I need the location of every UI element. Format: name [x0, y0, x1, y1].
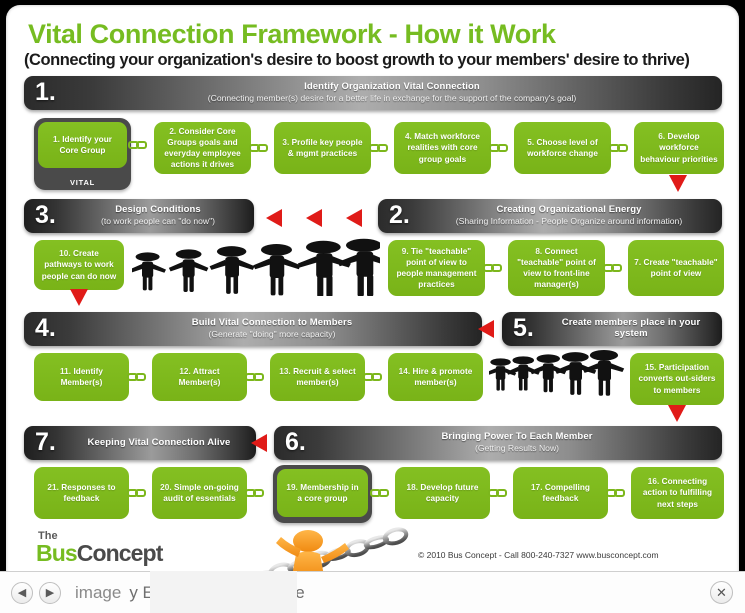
flow-arrow-left-e	[251, 434, 267, 452]
step-box-1[interactable]: 1. Identify your Core Group	[38, 122, 127, 168]
step-box-7[interactable]: 7. Create "teachable" point of view	[628, 240, 724, 296]
section-subheading: (to work people can "do now")	[101, 216, 215, 226]
section-heading: Identify Organization Vital Connection	[304, 82, 480, 93]
step-text: Create pathways to work people can do no…	[42, 249, 117, 280]
chain-link	[489, 143, 511, 153]
image-viewer: Vital Connection Framework - How it Work…	[0, 0, 745, 613]
step-box-8[interactable]: 8. Connect "teachable" point of view to …	[508, 240, 605, 296]
step-number: 8.	[535, 247, 542, 256]
step-text: Profile key people & mgmt practices	[288, 138, 363, 158]
flow-arrow-down-3	[668, 405, 686, 422]
step-number: 5.	[527, 138, 534, 147]
logo-bus: Bus	[36, 540, 77, 566]
step-text: Match workforce realities with core grou…	[407, 132, 480, 163]
step-box-17[interactable]: 17. Compelling feedback	[513, 467, 608, 519]
section-bar-5: 5. Create members place in your system	[502, 312, 722, 346]
chain-link	[245, 488, 267, 498]
step-text: Responses to feedback	[61, 483, 115, 503]
step-number: 7.	[634, 258, 641, 267]
step-number: 4.	[405, 132, 412, 141]
step-box-13[interactable]: 13. Recruit & select member(s)	[270, 353, 365, 401]
section-heading: Create members place in your system	[550, 318, 712, 340]
people-chain-illustration-1	[132, 238, 380, 296]
chain-link	[370, 488, 392, 498]
step-number: 18.	[407, 483, 419, 492]
step-box-4[interactable]: 4. Match workforce realities with core g…	[394, 122, 491, 174]
step-number: 14.	[399, 367, 411, 376]
step-box-2[interactable]: 2. Consider Core Groups goals and everyd…	[154, 122, 251, 174]
step-number: 17.	[531, 483, 543, 492]
chain-link	[363, 372, 385, 382]
step-box-3[interactable]: 3. Profile key people & mgmt practices	[274, 122, 371, 174]
section-bar-7: 7. Keeping Vital Connection Alive	[24, 426, 256, 460]
step-text: Membership in a core group	[297, 483, 358, 503]
arrow-left-icon[interactable]: ◀	[11, 582, 33, 604]
section-number: 3.	[35, 203, 56, 228]
section-subheading: (Sharing Information - People Organize a…	[456, 216, 682, 226]
section-heading: Keeping Vital Connection Alive	[88, 438, 231, 449]
chain-link	[606, 488, 628, 498]
step-box-16[interactable]: 16. Connecting action to fulfilling next…	[631, 467, 724, 519]
step-box-18[interactable]: 18. Develop future capacity	[395, 467, 490, 519]
step-number: 20.	[160, 483, 172, 492]
close-icon[interactable]: ✕	[710, 581, 733, 604]
step-box-11[interactable]: 11. Identify Member(s)	[34, 353, 129, 401]
section-bar-3: 3. Design Conditions (to work people can…	[24, 199, 254, 233]
section-bar-2: 2. Creating Organizational Energy (Shari…	[378, 199, 722, 233]
section-subheading: (Connecting member(s) desire for a bette…	[208, 93, 577, 103]
chain-link	[483, 263, 505, 273]
chain-link	[369, 143, 391, 153]
step-text: Develop future capacity	[420, 483, 478, 503]
step-number: 3.	[282, 138, 289, 147]
step-text: Identify your Core Group	[60, 135, 113, 155]
step-box-21[interactable]: 21. Responses to feedback	[34, 467, 129, 519]
step-number: 1.	[53, 135, 60, 144]
step-text: Compelling feedback	[543, 483, 590, 503]
vital-plate-label: VITAL	[34, 178, 131, 187]
flow-arrow-left-c	[346, 209, 362, 227]
copyright-text: © 2010 Bus Concept - Call 800-240-7327 w…	[418, 550, 659, 560]
section-number: 7.	[35, 430, 56, 455]
flow-arrow-down-1	[669, 175, 687, 192]
step-box-19[interactable]: 19. Membership in a core group	[277, 469, 368, 517]
step-number: 6.	[658, 132, 665, 141]
step-text: Choose level of workforce change	[527, 138, 598, 158]
section-number: 4.	[35, 316, 56, 341]
section-subheading: (Getting Results Now)	[475, 443, 559, 453]
section-bar-6: 6. Bringing Power To Each Member (Gettin…	[274, 426, 722, 460]
section-heading: Build Vital Connection to Members	[192, 318, 352, 329]
step-box-5[interactable]: 5. Choose level of workforce change	[514, 122, 611, 174]
flow-arrow-left-b	[306, 209, 322, 227]
chain-link	[128, 140, 150, 150]
section-number: 6.	[285, 430, 306, 455]
image-viewer-toolbar: ◀ ▶ image y Effective Art Boutique ✕	[0, 571, 745, 613]
step-text: Connect "teachable" point of view to fro…	[517, 247, 596, 289]
step-box-12[interactable]: 12. Attract Member(s)	[152, 353, 247, 401]
step-number: 16.	[648, 477, 660, 486]
step-text: Recruit & select member(s)	[293, 367, 356, 387]
section-heading: Creating Organizational Energy	[497, 205, 642, 216]
image-bleed-strip	[150, 571, 297, 613]
step-number: 9.	[402, 247, 409, 256]
section-bar-4: 4. Build Vital Connection to Members (Ge…	[24, 312, 482, 346]
section-bar-1: 1. Identify Organization Vital Connectio…	[24, 76, 722, 110]
step-text: Create "teachable" point of view	[644, 258, 718, 278]
chain-link	[127, 372, 149, 382]
step-text: Simple on-going audit of essentials	[163, 483, 239, 503]
chain-link	[609, 143, 631, 153]
step-box-6[interactable]: 6. Develop workforce behaviour prioritie…	[634, 122, 724, 174]
viewer-label: image	[75, 583, 121, 603]
chain-link	[603, 263, 625, 273]
step-box-10[interactable]: 10. Create pathways to work people can d…	[34, 240, 124, 290]
people-chain-illustration-2	[489, 350, 627, 402]
step-box-20[interactable]: 20. Simple on-going audit of essentials	[152, 467, 247, 519]
step-text: Develop workforce behaviour priorities	[640, 132, 717, 163]
step-number: 21.	[47, 483, 59, 492]
page-title: Vital Connection Framework - How it Work	[28, 19, 556, 50]
step-text: Hire & promote member(s)	[413, 367, 473, 387]
step-box-15[interactable]: 15. Participation converts out-siders to…	[630, 353, 724, 405]
chain-link	[245, 372, 267, 382]
section-number: 2.	[389, 203, 410, 228]
chain-link	[249, 143, 271, 153]
section-heading: Bringing Power To Each Member	[441, 432, 592, 443]
step-number: 12.	[179, 367, 191, 376]
flow-arrow-left-d	[478, 320, 494, 338]
section-number: 1.	[35, 80, 56, 105]
step-number: 11.	[60, 367, 71, 376]
section-number: 5.	[513, 316, 534, 341]
page-subtitle: (Connecting your organization's desire t…	[24, 51, 689, 70]
flow-arrow-down-2	[70, 289, 88, 306]
flow-arrow-left-a	[266, 209, 282, 227]
section-subheading: (Generate "doing" more capacity)	[209, 329, 336, 339]
step-number: 10.	[59, 249, 71, 258]
step-box-14[interactable]: 14. Hire & promote member(s)	[388, 353, 483, 401]
step-number: 13.	[279, 367, 291, 376]
step-box-9[interactable]: 9. Tie "teachable" point of view to peop…	[388, 240, 485, 296]
step-number: 15.	[645, 363, 657, 372]
infographic-poster: Vital Connection Framework - How it Work…	[6, 5, 739, 594]
section-heading: Design Conditions	[115, 205, 201, 216]
arrow-right-icon[interactable]: ▶	[39, 582, 61, 604]
step-number: 19.	[286, 483, 298, 492]
chain-link	[488, 488, 510, 498]
step-number: 2.	[169, 127, 176, 136]
chain-link	[127, 488, 149, 498]
